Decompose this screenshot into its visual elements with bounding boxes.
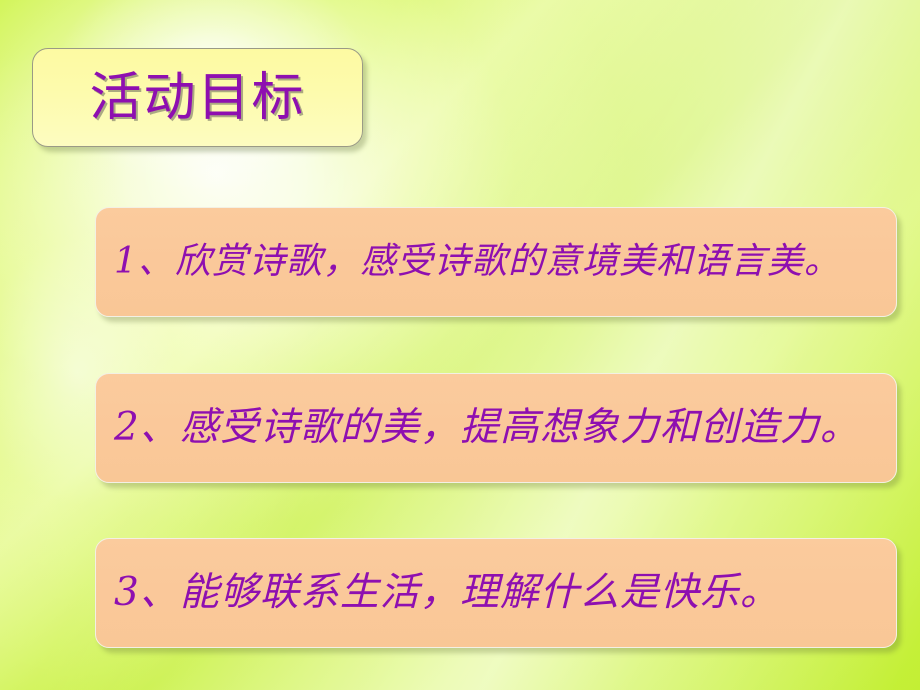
goal-item-2: 2、感受诗歌的美，提高想象力和创造力。 bbox=[95, 373, 897, 483]
goal-item-1: 1、欣赏诗歌，感受诗歌的意境美和语言美。 bbox=[95, 207, 897, 317]
title-box: 活动目标 bbox=[32, 48, 363, 147]
goal-item-1-text: 1、欣赏诗歌，感受诗歌的意境美和语言美。 bbox=[96, 241, 859, 282]
slide-title: 活动目标 bbox=[89, 72, 305, 124]
slide-canvas: 活动目标 1、欣赏诗歌，感受诗歌的意境美和语言美。 2、感受诗歌的美，提高想象力… bbox=[0, 0, 920, 690]
goal-item-3-text: 3、能够联系生活，理解什么是快乐。 bbox=[96, 571, 798, 616]
goal-item-2-text: 2、感受诗歌的美，提高想象力和创造力。 bbox=[96, 406, 878, 451]
goal-item-3: 3、能够联系生活，理解什么是快乐。 bbox=[95, 538, 897, 648]
